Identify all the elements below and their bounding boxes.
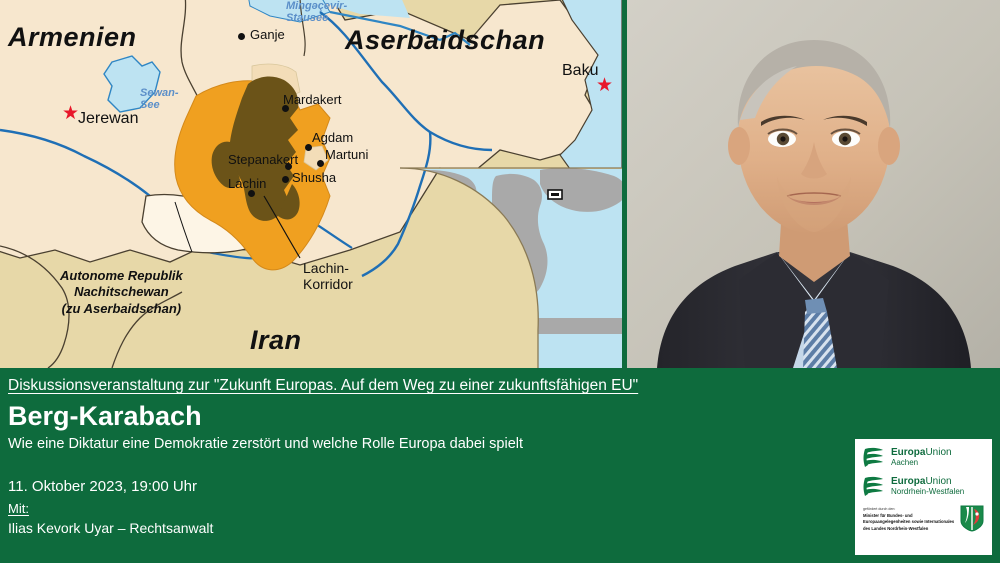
speaker-photo: [627, 0, 1000, 368]
event-datetime: 11. Oktober 2023, 19:00 Uhr: [8, 478, 197, 495]
map-label-sewan-see: Sewan- See: [140, 88, 179, 111]
funding-note: gefördert durch den: Minister für Bundes…: [863, 505, 984, 532]
funding-prefix: gefördert durch den:: [863, 507, 956, 511]
logo-europa-union-aachen: EuropaUnion Aachen: [863, 446, 984, 470]
map-caucasus: Armenien Aserbaidschan Iran ★ Jerewan ★ …: [0, 0, 622, 368]
event-series-headline: Diskussionsveranstaltung zur "Zukunft Eu…: [8, 377, 638, 395]
speaker-section-label: Mit:: [8, 501, 29, 516]
map-label-stepanakert: Stepanakert: [228, 152, 298, 167]
europa-union-mark-icon-2: [863, 475, 885, 499]
map-label-shusha: Shusha: [292, 170, 336, 185]
sponsor-logo-box: EuropaUnion Aachen EuropaUnion Nordrhein…: [853, 437, 994, 557]
city-dot-martuni: [317, 160, 324, 167]
speaker-portrait-graphic: [627, 0, 1000, 368]
logo-europa-union-nrw: EuropaUnion Nordrhein-Westfalen: [863, 475, 984, 499]
city-dot-agdam: [305, 144, 312, 151]
map-label-ganje: Ganje: [250, 27, 285, 42]
logo-org-region-2: Nordrhein-Westfalen: [891, 488, 964, 497]
map-note-nachitschewan: Autonome Republik Nachitschewan (zu Aser…: [60, 268, 183, 317]
map-label-agdam: Agdam: [312, 130, 353, 145]
speaker-name: Ilias Kevork Uyar – Rechtsanwalt: [8, 520, 213, 536]
nrw-coat-of-arms-icon: [960, 505, 984, 532]
map-label-lachin: Lachin: [228, 176, 266, 191]
map-label-iran: Iran: [250, 325, 302, 356]
map-label-armenien: Armenien: [8, 22, 137, 53]
info-banner: Diskussionsveranstaltung zur "Zukunft Eu…: [0, 368, 1000, 563]
page-title: Berg-Karabach: [8, 401, 202, 432]
logo-org-region-1: Aachen: [891, 459, 952, 468]
europa-union-mark-icon: [863, 446, 885, 470]
city-dot-lachin: [248, 190, 255, 197]
map-label-mardakert: Mardakert: [283, 92, 342, 107]
map-note-lachin-korridor: Lachin- Korridor: [303, 260, 353, 292]
city-dot-shusha: [282, 176, 289, 183]
map-label-baku: Baku: [562, 62, 598, 80]
map-label-martuni: Martuni: [325, 147, 368, 162]
map-label-mingacevir-stausee: Mingəçevir- Stausee: [286, 1, 347, 24]
city-dot-ganje: [238, 33, 245, 40]
map-label-jerewan: Jerewan: [78, 110, 138, 128]
map-label-aserbaidschan: Aserbaidschan: [345, 25, 545, 56]
funding-ministry: Minister für Bundes- und Europaangelegen…: [863, 513, 956, 532]
event-subtitle: Wie eine Diktatur eine Demokratie zerstö…: [8, 436, 523, 452]
event-poster: Armenien Aserbaidschan Iran ★ Jerewan ★ …: [0, 0, 1000, 563]
